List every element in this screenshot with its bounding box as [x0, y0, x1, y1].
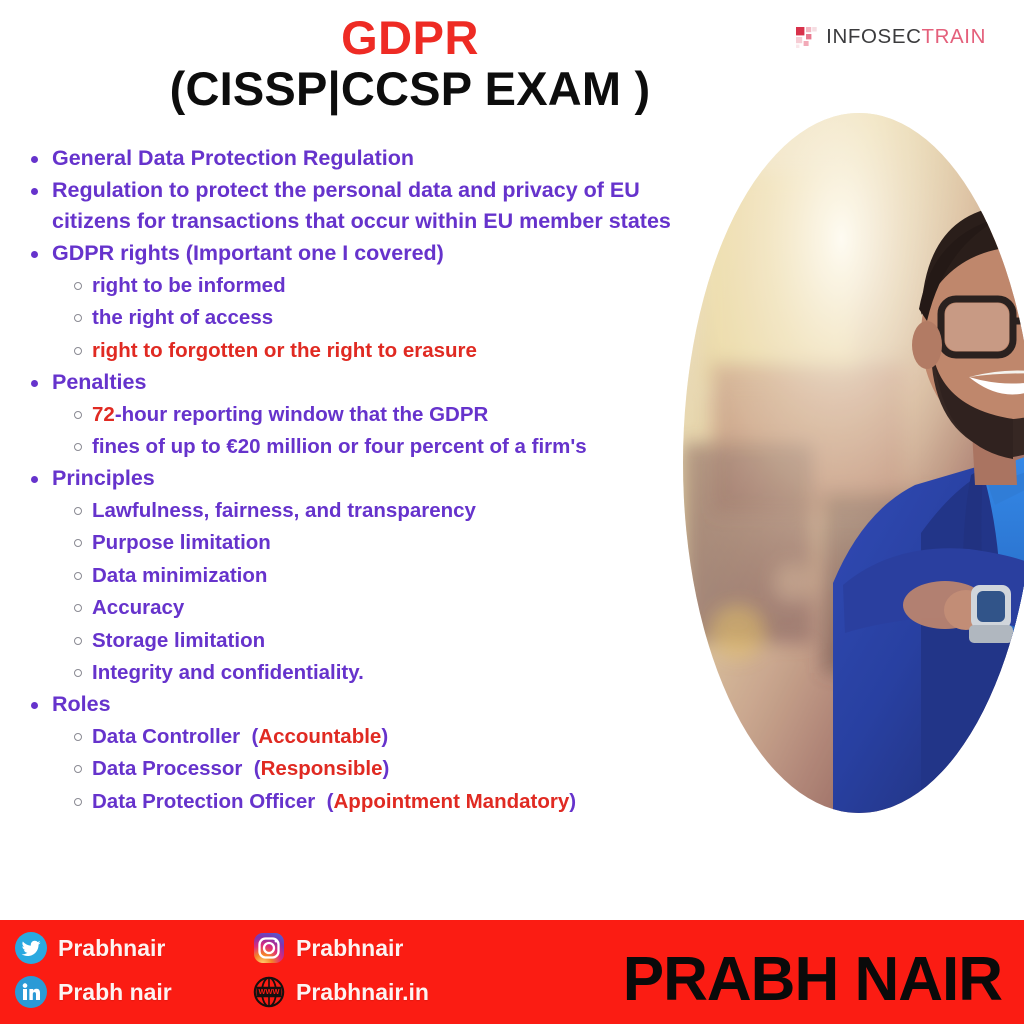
- sub-bullet-item: Accuracy: [52, 592, 687, 624]
- bullet-text: GDPR rights (Important one I covered): [52, 241, 444, 265]
- sub-bullet-text: 72-hour reporting window that the GDPR: [92, 403, 488, 426]
- text-fragment: 72: [92, 403, 115, 426]
- bullet-text: Penalties: [52, 370, 146, 394]
- bullet-label: Penalties: [52, 367, 687, 399]
- bullet-item: Penalties72-hour reporting window that t…: [22, 367, 687, 463]
- text-fragment: Data Protection Officer (: [92, 790, 334, 813]
- sub-bullet-text: Accuracy: [92, 596, 184, 619]
- website-handle: Prabhnair.in: [296, 979, 429, 1006]
- text-fragment: Appointment Mandatory: [334, 790, 570, 813]
- linkedin-handle: Prabh nair: [58, 979, 172, 1006]
- presenter-photo-image: [683, 113, 1024, 813]
- sub-bullet-item: Integrity and confidentiality.: [52, 657, 687, 689]
- sub-bullet-item: Lawfulness, fairness, and transparency: [52, 495, 687, 527]
- instagram-icon[interactable]: [252, 931, 286, 965]
- sub-bullet-item: 72-hour reporting window that the GDPR: [52, 399, 687, 431]
- bullet-item: PrinciplesLawfulness, fairness, and tran…: [22, 463, 687, 689]
- sub-bullet-item: Data Protection Officer (Appointment Man…: [52, 786, 687, 818]
- text-fragment: Accountable: [258, 725, 381, 748]
- sub-bullet-item: fines of up to €20 million or four perce…: [52, 431, 687, 463]
- bullet-text: General Data Protection Regulation: [52, 146, 414, 170]
- twitter-icon[interactable]: [14, 931, 48, 965]
- website-www-globe-icon[interactable]: WWW: [252, 975, 286, 1009]
- sub-bullet-text: Purpose limitation: [92, 531, 271, 554]
- page-title: GDPR (CISSP|CCSP EXAM ): [0, 14, 820, 114]
- text-fragment: Responsible: [261, 757, 383, 780]
- text-fragment: ): [383, 757, 390, 780]
- sub-bullet-item: Data Processor (Responsible): [52, 753, 687, 785]
- sub-bullet-text: Data Protection Officer (Appointment Man…: [92, 790, 576, 813]
- presenter-photo: [683, 113, 1024, 813]
- sub-bullet-text: Storage limitation: [92, 629, 265, 652]
- sub-bullet-item: the right of access: [52, 302, 687, 334]
- bullet-text: Regulation to protect the personal data …: [52, 178, 671, 234]
- linkedin-icon[interactable]: [14, 975, 48, 1009]
- bullet-label: Principles: [52, 463, 687, 495]
- logo-word-infosec: INFOSEC: [826, 25, 921, 48]
- text-fragment: -hour reporting window that the GDPR: [115, 403, 489, 426]
- sub-bullet-text: fines of up to €20 million or four perce…: [92, 435, 587, 458]
- text-fragment: Data Controller (: [92, 725, 258, 748]
- instagram-handle: Prabhnair: [296, 935, 403, 962]
- infosectrain-wordmark: INFOSECTRAIN: [826, 27, 986, 48]
- bullet-text: Roles: [52, 692, 111, 716]
- bullet-item: General Data Protection Regulation: [22, 143, 687, 175]
- bullet-label: General Data Protection Regulation: [52, 143, 687, 175]
- bullet-label: Regulation to protect the personal data …: [52, 175, 687, 238]
- text-fragment: ): [381, 725, 388, 748]
- logo-word-train: TRAIN: [922, 25, 987, 48]
- bullet-item: RolesData Controller (Accountable)Data P…: [22, 689, 687, 818]
- sub-bullet-text: Data Controller (Accountable): [92, 725, 388, 748]
- social-column-left: Prabhnair Prabh nair: [14, 926, 172, 1014]
- top-level-list: General Data Protection RegulationRegula…: [22, 143, 687, 818]
- sub-bullet-text: Integrity and confidentiality.: [92, 661, 364, 684]
- sub-bullet-list: right to be informedthe right of accessr…: [52, 270, 687, 367]
- bullet-label: GDPR rights (Important one I covered): [52, 238, 687, 270]
- sub-bullet-item: Data Controller (Accountable): [52, 721, 687, 753]
- infosectrain-logo: INFOSECTRAIN: [796, 27, 986, 48]
- sub-bullet-item: Data minimization: [52, 560, 687, 592]
- title-line-exam: (CISSP|CCSP EXAM ): [0, 65, 820, 114]
- social-column-right: Prabhnair WWW Prabhnair.in: [252, 926, 429, 1014]
- twitter-handle: Prabhnair: [58, 935, 165, 962]
- sub-bullet-text: the right of access: [92, 306, 273, 329]
- bullet-label: Roles: [52, 689, 687, 721]
- social-row-linkedin[interactable]: Prabh nair: [14, 970, 172, 1014]
- bullet-content: General Data Protection RegulationRegula…: [22, 143, 687, 818]
- bullet-item: Regulation to protect the personal data …: [22, 175, 687, 238]
- svg-text:WWW: WWW: [259, 987, 280, 996]
- text-fragment: Data Processor (: [92, 757, 261, 780]
- sub-bullet-text: Data Processor (Responsible): [92, 757, 389, 780]
- presenter-name: PRABH NAIR: [623, 949, 1002, 1011]
- social-row-twitter[interactable]: Prabhnair: [14, 926, 172, 970]
- bullet-text: Principles: [52, 466, 155, 490]
- sub-bullet-item: Storage limitation: [52, 625, 687, 657]
- sub-bullet-list: Lawfulness, fairness, and transparencyPu…: [52, 495, 687, 689]
- infographic-canvas: INFOSECTRAIN GDPR (CISSP|CCSP EXAM ): [0, 0, 1024, 1024]
- sub-bullet-list: 72-hour reporting window that the GDPRfi…: [52, 399, 687, 464]
- sub-bullet-item: right to forgotten or the right to erasu…: [52, 335, 687, 367]
- sub-bullet-text: right to forgotten or the right to erasu…: [92, 339, 477, 362]
- title-line-gdpr: GDPR: [0, 14, 820, 63]
- social-row-website[interactable]: WWW Prabhnair.in: [252, 970, 429, 1014]
- sub-bullet-list: Data Controller (Accountable)Data Proces…: [52, 721, 687, 818]
- sub-bullet-text: Lawfulness, fairness, and transparency: [92, 499, 476, 522]
- bullet-item: GDPR rights (Important one I covered)rig…: [22, 238, 687, 367]
- sub-bullet-text: right to be informed: [92, 274, 286, 297]
- sub-bullet-text: Data minimization: [92, 564, 267, 587]
- footer-bar: Prabhnair Prabh nair: [0, 920, 1024, 1024]
- text-fragment: ): [569, 790, 576, 813]
- social-row-instagram[interactable]: Prabhnair: [252, 926, 429, 970]
- sub-bullet-item: Purpose limitation: [52, 527, 687, 559]
- sub-bullet-item: right to be informed: [52, 270, 687, 302]
